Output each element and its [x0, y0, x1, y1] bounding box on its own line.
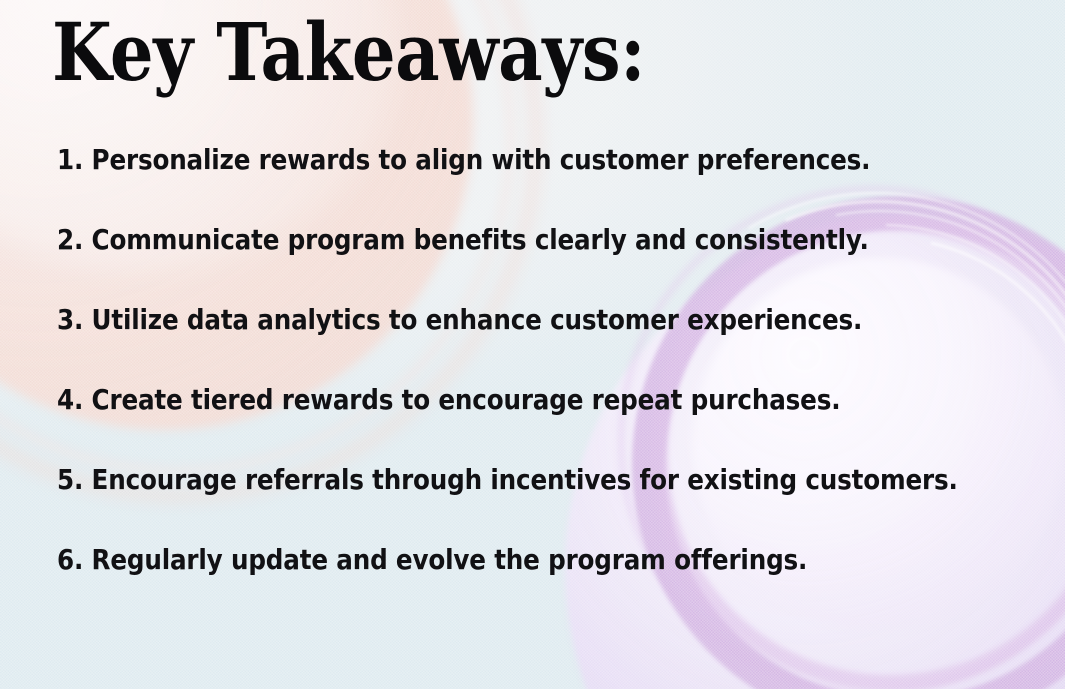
slide-content: Key Takeaways: 1. Personalize rewards to… [0, 0, 1065, 689]
list-item: 2. Communicate program benefits clearly … [57, 226, 884, 254]
slide-canvas: Key Takeaways: 1. Personalize rewards to… [0, 0, 1065, 689]
list-item: 1. Personalize rewards to align with cus… [57, 146, 884, 174]
page-title: Key Takeaways: [52, 10, 645, 95]
takeaways-list: 1. Personalize rewards to align with cus… [57, 146, 997, 574]
list-item: 4. Create tiered rewards to encourage re… [57, 386, 884, 414]
list-item: 3. Utilize data analytics to enhance cus… [57, 306, 884, 334]
list-item: 6. Regularly update and evolve the progr… [57, 546, 884, 574]
list-item: 5. Encourage referrals through incentive… [57, 466, 884, 494]
